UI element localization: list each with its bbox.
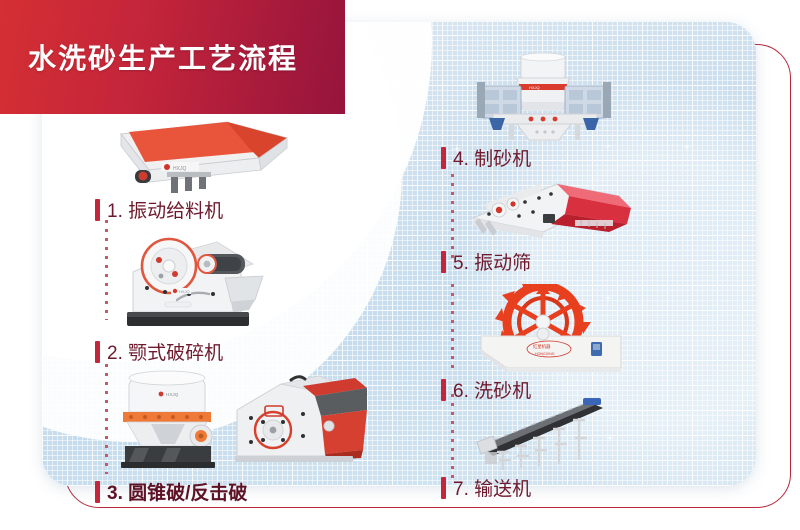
jaw-crusher-icon: HXJQ (113, 224, 293, 336)
flow-step-7[interactable]: 7. 输送机 (441, 394, 633, 501)
cone-impact-crusher-figure: HXJQ (105, 364, 405, 476)
flow-step-1-label: 1. 振动给料机 (107, 196, 223, 223)
flow-step-3[interactable]: HXJQ (95, 364, 405, 505)
sand-making-machine-icon: HXJQ (459, 52, 629, 142)
svg-text:HXJQ: HXJQ (173, 166, 186, 172)
accent-bar (95, 199, 100, 221)
sand-washing-machine-icon: 红星机器 HONGXING (471, 284, 631, 374)
flow-step-6[interactable]: 红星机器 HONGXING 6. 洗砂机 (441, 284, 631, 403)
vibrating-screen-figure (459, 174, 639, 246)
vibrating-feeder-figure: HXJQ (109, 112, 299, 194)
page-title: 水洗砂生产工艺流程 (28, 37, 298, 77)
belt-conveyor-figure (463, 394, 633, 472)
svg-text:HXJQ: HXJQ (166, 392, 179, 397)
flow-step-label: 3. 圆锥破/反击破 (95, 478, 405, 505)
flow-step-2[interactable]: HXJQ 2. 颚式破碎机 (95, 224, 293, 365)
flow-step-label: 5. 振动筛 (441, 248, 639, 275)
vibrating-feeder-icon: HXJQ (109, 112, 299, 194)
sparkle-icon (62, 322, 72, 332)
flow-step-5[interactable]: 5. 振动筛 (441, 174, 639, 275)
flow-column-left: HXJQ 1. 振动给料机 (95, 112, 425, 512)
flow-column-right: HXJQ (441, 52, 771, 512)
flow-step-4[interactable]: HXJQ (441, 52, 629, 171)
flow-step-1[interactable]: HXJQ 1. 振动给料机 (95, 112, 299, 223)
accent-bar (441, 477, 446, 499)
flow-step-label: 1. 振动给料机 (95, 196, 299, 223)
title-banner: 水洗砂生产工艺流程 (0, 0, 345, 114)
vibrating-screen-icon (459, 174, 639, 246)
flow-step-2-label: 2. 颚式破碎机 (107, 338, 223, 365)
flow-step-5-label: 5. 振动筛 (453, 248, 531, 275)
flow-step-label: 2. 颚式破碎机 (95, 338, 293, 365)
sand-washing-machine-figure: 红星机器 HONGXING (471, 284, 631, 374)
infographic-stage: HXJQ 1. 振动给料机 (0, 0, 800, 530)
svg-text:HXJQ: HXJQ (179, 289, 190, 294)
flow-step-4-label: 4. 制砂机 (453, 144, 531, 171)
accent-bar (441, 251, 446, 273)
sand-making-machine-figure: HXJQ (459, 52, 629, 142)
flow-step-7-label: 7. 输送机 (453, 474, 531, 501)
accent-bar (95, 341, 100, 363)
cone-impact-crusher-icon: HXJQ (105, 364, 405, 476)
jaw-crusher-figure: HXJQ (113, 224, 293, 336)
svg-text:HXJQ: HXJQ (529, 85, 540, 90)
svg-text:红星机器: 红星机器 (533, 343, 551, 350)
accent-bar (441, 147, 446, 169)
flow-step-label: 4. 制砂机 (441, 144, 629, 171)
svg-text:HONGXING: HONGXING (535, 352, 555, 356)
flow-step-3-label: 3. 圆锥破/反击破 (107, 478, 247, 505)
flow-step-label: 7. 输送机 (441, 474, 633, 501)
accent-bar (95, 481, 100, 503)
belt-conveyor-icon (463, 394, 633, 472)
